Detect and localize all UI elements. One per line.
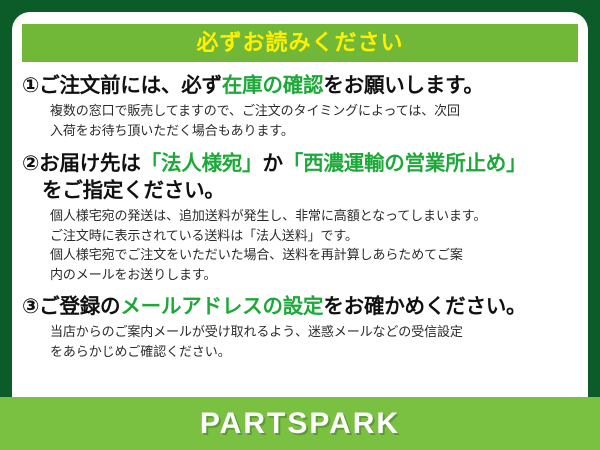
heading-highlight: 在庫の確認 bbox=[222, 74, 324, 97]
notice-item-1-body: 複数の窓口で販売してますので、ご注文のタイミングによっては、次回 入荷をお待ち頂… bbox=[22, 101, 582, 140]
body-line: 個人様宅宛でご注文をいただいた場合、送料を再計算しあらためてご案 bbox=[50, 245, 582, 265]
heading-highlight: メールアドレスの設定 bbox=[120, 295, 323, 318]
notice-item-3-body: 当店からのご案内メールが受け取れるよう、迷惑メールなどの受信設定 をあらかじめご… bbox=[22, 322, 582, 361]
heading-line-2: をご指定ください。 bbox=[22, 177, 582, 204]
notice-card: 必ずお読みください ①ご注文前には、必ず在庫の確認をお願いします。 複数の窓口で… bbox=[0, 0, 600, 450]
page-title: 必ずお読みください bbox=[196, 32, 403, 54]
body-line: 複数の窓口で販売してますので、ご注文のタイミングによっては、次回 bbox=[50, 101, 582, 121]
footer-brand-band: PARTSPARK bbox=[0, 397, 600, 450]
notice-list: ①ご注文前には、必ず在庫の確認をお願いします。 複数の窓口で販売してますので、ご… bbox=[12, 64, 588, 361]
body-line: ご注文時に表示されている送料は「法人送料」です。 bbox=[50, 226, 582, 246]
heading-segment: ①ご注文前には、必ず bbox=[22, 74, 222, 97]
white-panel: 必ずお読みください ①ご注文前には、必ず在庫の確認をお願いします。 複数の窓口で… bbox=[12, 12, 588, 450]
heading-segment: をお確かめください。 bbox=[323, 295, 526, 318]
notice-item-2-body: 個人様宅宛の発送は、追加送料が発生し、非常に高額となってしまいます。 ご注文時に… bbox=[22, 206, 582, 284]
notice-item-1: ①ご注文前には、必ず在庫の確認をお願いします。 複数の窓口で販売してますので、ご… bbox=[12, 72, 588, 140]
notice-item-2: ②お届け先は「法人様宛」か「西濃運輸の営業所止め」 をご指定ください。 個人様宅… bbox=[12, 150, 588, 284]
header-banner: 必ずお読みください bbox=[22, 24, 578, 62]
body-line: 内のメールをお送りします。 bbox=[50, 265, 582, 285]
heading-segment: をお願いします。 bbox=[323, 74, 483, 97]
brand-logo: PARTSPARK bbox=[200, 409, 400, 439]
notice-item-3-heading: ③ご登録のメールアドレスの設定をお確かめください。 bbox=[22, 293, 582, 320]
body-line: 個人様宅宛の発送は、追加送料が発生し、非常に高額となってしまいます。 bbox=[50, 206, 582, 226]
heading-highlight: 「西濃運輸の営業所止め」 bbox=[283, 152, 527, 175]
notice-item-3: ③ご登録のメールアドレスの設定をお確かめください。 当店からのご案内メールが受け… bbox=[12, 293, 588, 361]
heading-highlight: 「法人様宛」 bbox=[141, 152, 263, 175]
heading-segment: か bbox=[262, 152, 282, 175]
body-line: 入荷をお待ち頂いただく場合もあります。 bbox=[50, 121, 582, 141]
body-line: をあらかじめご確認ください。 bbox=[50, 342, 582, 362]
heading-segment: ③ご登録の bbox=[22, 295, 120, 318]
heading-segment: ②お届け先は bbox=[22, 152, 141, 175]
notice-item-2-heading: ②お届け先は「法人様宛」か「西濃運輸の営業所止め」 をご指定ください。 bbox=[22, 150, 582, 204]
notice-item-1-heading: ①ご注文前には、必ず在庫の確認をお願いします。 bbox=[22, 72, 582, 99]
body-line: 当店からのご案内メールが受け取れるよう、迷惑メールなどの受信設定 bbox=[50, 322, 582, 342]
